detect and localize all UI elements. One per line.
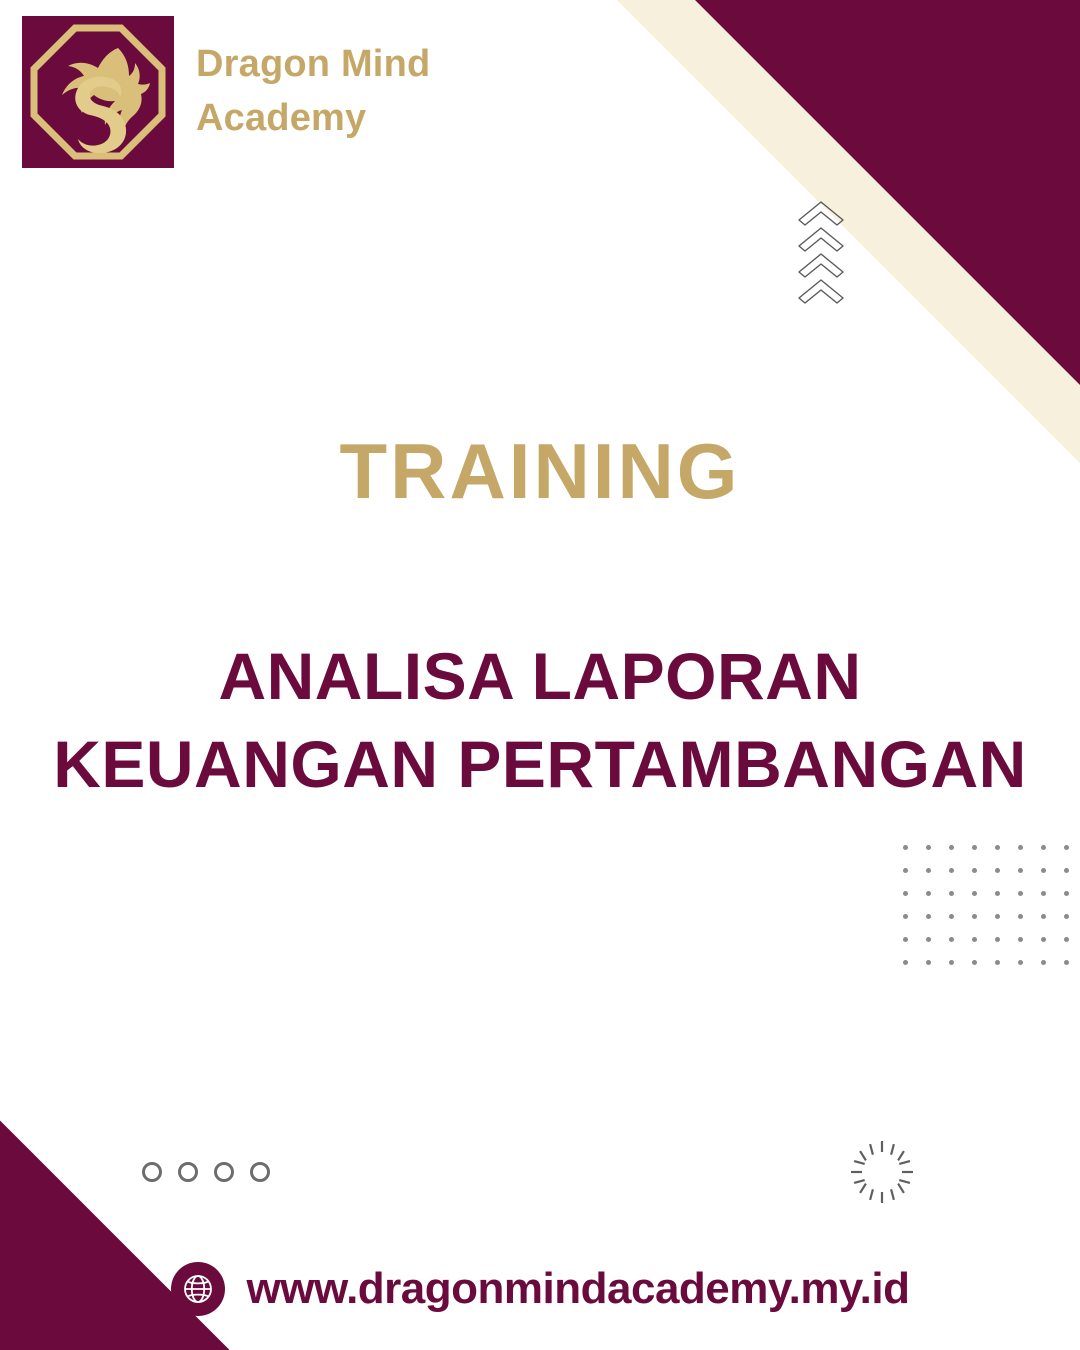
grid-dot [972, 937, 977, 942]
grid-dot [926, 937, 931, 942]
grid-dot [995, 914, 1000, 919]
grid-dot [1018, 914, 1023, 919]
headline-line-2: KEUANGAN PERTAMBANGAN [0, 720, 1080, 808]
grid-dot [903, 845, 908, 850]
grid-dot [949, 868, 954, 873]
grid-dot [1064, 868, 1069, 873]
ring-decoration-row [142, 1162, 270, 1182]
grid-dot [972, 868, 977, 873]
footer-website[interactable]: www.dragonmindacademy.my.id [0, 1262, 1080, 1316]
grid-dot [972, 960, 977, 965]
grid-dot [972, 845, 977, 850]
brand-logo-lockup: Dragon Mind Academy [22, 16, 430, 168]
grid-dot [995, 868, 1000, 873]
grid-dot [1018, 891, 1023, 896]
grid-dot [1064, 891, 1069, 896]
poster-canvas: Dragon Mind Academy TRAINING ANALISA LAP… [0, 0, 1080, 1350]
dragon-emblem-icon [22, 16, 174, 168]
grid-dot [1064, 937, 1069, 942]
grid-dot [926, 960, 931, 965]
grid-dot [903, 914, 908, 919]
grid-dot [1041, 891, 1046, 896]
grid-dot [995, 960, 1000, 965]
grid-dot [926, 845, 931, 850]
grid-dot [949, 845, 954, 850]
grid-dot [995, 845, 1000, 850]
eyebrow-training: TRAINING [0, 432, 1080, 510]
hero-text-block: TRAINING ANALISA LAPORAN KEUANGAN PERTAM… [0, 432, 1080, 809]
grid-dot [903, 891, 908, 896]
grid-dot [949, 891, 954, 896]
grid-dot [926, 891, 931, 896]
grid-dot [1041, 914, 1046, 919]
grid-dot [1041, 845, 1046, 850]
headline-line-1: ANALISA LAPORAN [0, 632, 1080, 720]
grid-dot [1018, 937, 1023, 942]
grid-dot [903, 937, 908, 942]
brand-name-text: Dragon Mind Academy [196, 38, 430, 146]
grid-dot [949, 960, 954, 965]
grid-dot [1064, 845, 1069, 850]
grid-dot [1041, 868, 1046, 873]
sunburst-icon [845, 1135, 919, 1209]
grid-dot [1018, 845, 1023, 850]
grid-dot [926, 914, 931, 919]
grid-dot [1041, 960, 1046, 965]
grid-dot [972, 891, 977, 896]
grid-dot [1041, 937, 1046, 942]
globe-icon [171, 1262, 225, 1316]
grid-dot [949, 914, 954, 919]
grid-dot [972, 914, 977, 919]
grid-dot [903, 868, 908, 873]
dot-grid-decoration [903, 845, 1080, 983]
grid-dot [903, 960, 908, 965]
grid-dot [995, 891, 1000, 896]
chevron-up-icon [795, 198, 855, 308]
grid-dot [1018, 868, 1023, 873]
grid-dot [1018, 960, 1023, 965]
grid-dot [949, 937, 954, 942]
page-title: ANALISA LAPORAN KEUANGAN PERTAMBANGAN [0, 510, 1080, 809]
circle-outline-icon [178, 1162, 198, 1182]
circle-outline-icon [214, 1162, 234, 1182]
grid-dot [926, 868, 931, 873]
circle-outline-icon [250, 1162, 270, 1182]
grid-dot [1064, 960, 1069, 965]
grid-dot [995, 937, 1000, 942]
website-url-text[interactable]: www.dragonmindacademy.my.id [247, 1264, 910, 1314]
circle-outline-icon [142, 1162, 162, 1182]
grid-dot [1064, 914, 1069, 919]
